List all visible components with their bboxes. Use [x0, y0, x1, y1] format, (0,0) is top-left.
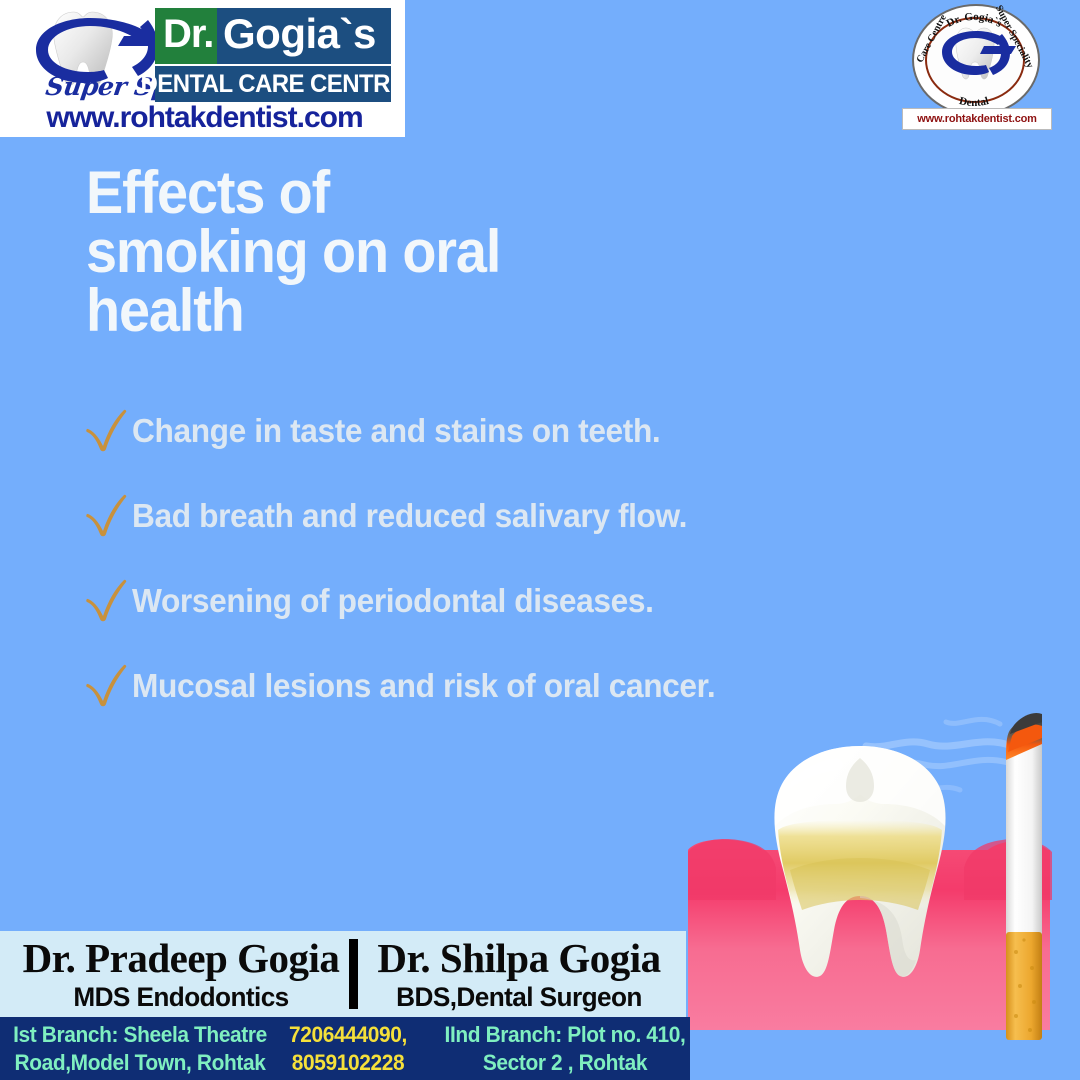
circular-logo-g-swoosh-icon [912, 4, 1036, 112]
list-item-label: Worsening of periodontal diseases. [132, 575, 654, 627]
doctor-credentials: MDS Endodontics [21, 981, 341, 1013]
phone-numbers[interactable]: 7206444090, 8059102228 [278, 1021, 418, 1077]
header-brand-dental-care-centre: DENTAL CARE CENTRE [141, 70, 405, 99]
list-item-label: Change in taste and stains on teeth. [132, 405, 660, 457]
header-website[interactable]: www.rohtakdentist.com [12, 101, 397, 135]
check-mark-icon [84, 573, 132, 625]
header-logo-panel: Super Speciality Dr. Gogia`s DENTAL CARE… [0, 0, 405, 137]
header-brand-green-block: Dr. [155, 8, 217, 64]
header-brand-block: Dr. Gogia`s DENTAL CARE CENTRE [155, 8, 391, 104]
header-brand-row-2: DENTAL CARE CENTRE [155, 66, 391, 102]
effects-checklist: Change in taste and stains on teeth. Bad… [84, 405, 984, 745]
doctor-entry-1: Dr. Pradeep Gogia MDS Endodontics [16, 935, 346, 1013]
doctors-divider [349, 939, 358, 1009]
doctor-entry-2: Dr. Shilpa Gogia BDS,Dental Surgeon [364, 935, 674, 1013]
header-brand-dr: Dr. [163, 12, 213, 57]
doctor-credentials: BDS,Dental Surgeon [369, 981, 670, 1013]
phone-number-1: 7206444090, [282, 1021, 415, 1049]
list-item: Worsening of periodontal diseases. [84, 575, 984, 627]
smoking-tooth-illustration [660, 700, 1080, 1080]
circular-logo-website: www.rohtakdentist.com [917, 113, 1036, 125]
check-mark-icon [84, 403, 132, 455]
list-item-label: Mucosal lesions and risk of oral cancer. [132, 660, 715, 712]
list-item: Change in taste and stains on teeth. [84, 405, 984, 457]
page-title: Effects of smoking on oral health [86, 163, 663, 340]
branch-1-line-2: Road,Model Town, Rohtak [11, 1049, 269, 1077]
doctors-banner: Dr. Pradeep Gogia MDS Endodontics Dr. Sh… [0, 931, 686, 1017]
cigarette-icon [1006, 713, 1042, 1040]
doctor-name: Dr. Pradeep Gogia [16, 935, 346, 981]
header-brand-navy-block: Gogia`s [217, 8, 391, 64]
list-item-label: Bad breath and reduced salivary flow. [132, 490, 687, 542]
check-mark-icon [84, 488, 132, 540]
circular-logo-website-box[interactable]: www.rohtakdentist.com [902, 108, 1052, 130]
phone-number-2: 8059102228 [282, 1049, 415, 1077]
check-mark-icon [84, 658, 132, 710]
address-banner: Ist Branch: Sheela Theatre Road,Model To… [0, 1017, 690, 1080]
branch-2-address: IInd Branch: Plot no. 410, Sector 2 , Ro… [420, 1021, 690, 1077]
poster-canvas: Super Speciality Dr. Gogia`s DENTAL CARE… [0, 0, 1080, 1080]
header-brand-row-1: Dr. Gogia`s [155, 8, 391, 64]
branch-1-address: Ist Branch: Sheela Theatre Road,Model To… [4, 1021, 276, 1077]
branch-2-line-1: IInd Branch: Plot no. 410, [427, 1021, 690, 1049]
circular-logo: Dr. Gogia`s Dental Super Speciality Care… [898, 4, 1054, 122]
doctor-name: Dr. Shilpa Gogia [364, 935, 674, 981]
branch-1-line-1: Ist Branch: Sheela Theatre [11, 1021, 269, 1049]
branch-2-line-2: Sector 2 , Rohtak [427, 1049, 690, 1077]
list-item: Bad breath and reduced salivary flow. [84, 490, 984, 542]
header-brand-gogias: Gogia`s [223, 10, 376, 58]
